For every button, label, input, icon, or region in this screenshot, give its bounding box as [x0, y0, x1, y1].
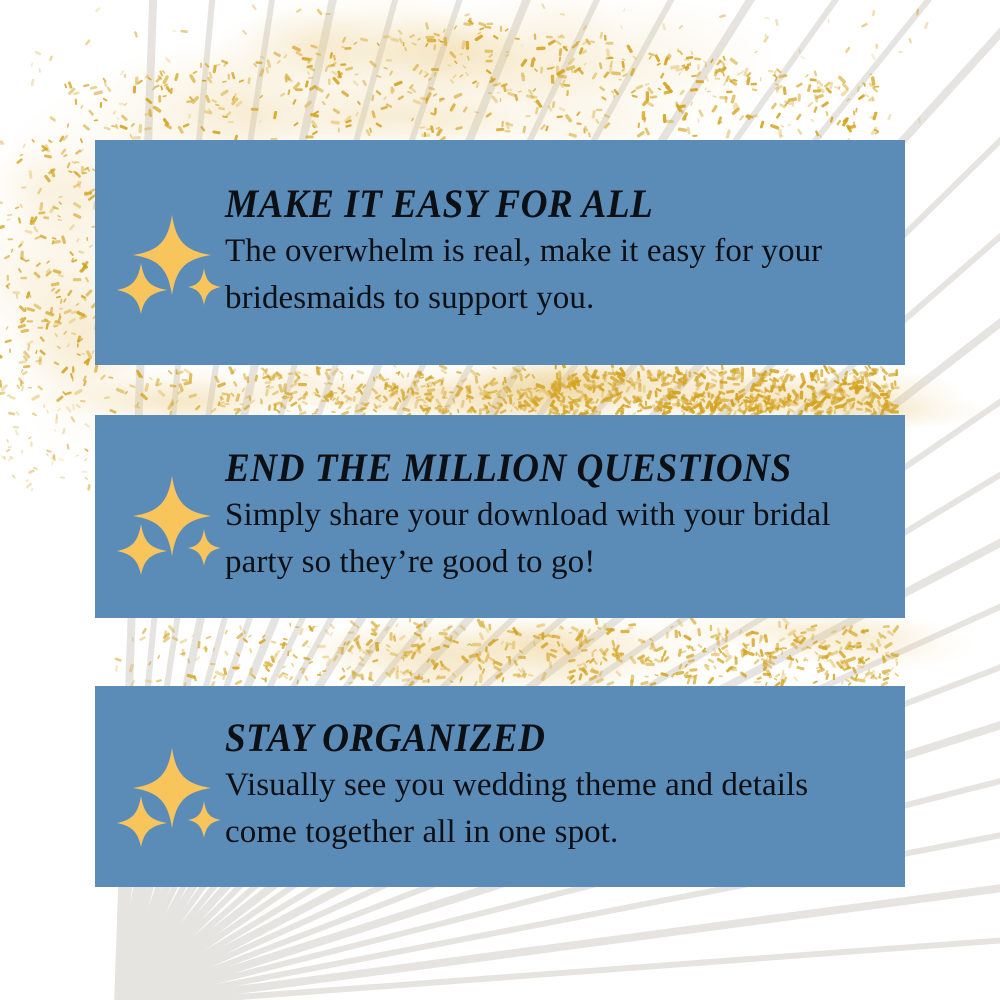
glitter-speck — [831, 370, 836, 373]
glitter-speck — [881, 368, 888, 375]
glitter-speck — [716, 637, 720, 646]
glitter-speck — [337, 647, 341, 649]
glitter-speck — [589, 658, 595, 665]
glitter-speck — [425, 97, 428, 104]
glitter-speck — [208, 108, 212, 112]
glitter-speck — [834, 404, 845, 410]
glitter-speck — [362, 384, 367, 389]
glitter-speck — [53, 206, 59, 210]
glitter-speck — [647, 369, 653, 377]
glitter-speck — [887, 630, 895, 637]
glitter-speck — [882, 669, 891, 674]
glitter-speck — [326, 391, 334, 398]
glitter-speck — [863, 83, 866, 87]
glitter-speck — [172, 636, 179, 642]
glitter-speck — [490, 76, 494, 82]
glitter-speck — [602, 371, 608, 380]
glitter-speck — [830, 398, 841, 405]
benefit-card-1-title: MAKE IT EASY FOR ALL — [225, 184, 835, 224]
glitter-speck — [758, 373, 764, 381]
glitter-speck — [830, 116, 834, 123]
glitter-speck — [612, 381, 616, 391]
glitter-speck — [86, 449, 89, 453]
glitter-speck — [775, 84, 783, 91]
glitter-speck — [315, 87, 317, 91]
glitter-speck — [588, 132, 591, 138]
glitter-speck — [212, 130, 220, 134]
glitter-speck — [681, 64, 685, 67]
glitter-speck — [518, 392, 525, 400]
glitter-speck — [19, 317, 23, 321]
glitter-speck — [63, 298, 67, 303]
glitter-speck — [684, 674, 692, 678]
glitter-speck — [0, 384, 8, 392]
glitter-speck — [395, 623, 398, 628]
glitter-speck — [32, 412, 38, 416]
glitter-speck — [755, 651, 757, 656]
glitter-speck — [890, 652, 900, 660]
glitter-speck — [718, 66, 726, 72]
glitter-speck — [786, 656, 794, 661]
glitter-speck — [916, 8, 919, 15]
glitter-speck — [828, 19, 829, 23]
glitter-speck — [547, 105, 553, 112]
glitter-speck — [77, 338, 83, 344]
glitter-speck — [271, 653, 278, 662]
glitter-speck — [690, 88, 698, 92]
glitter-speck — [612, 647, 618, 655]
glitter-speck — [501, 121, 504, 128]
glitter-speck — [666, 632, 669, 639]
glitter-speck — [310, 113, 319, 118]
glitter-speck — [875, 384, 880, 388]
glitter-speck — [563, 406, 566, 413]
glitter-speck — [80, 138, 84, 143]
glitter-speck — [223, 667, 228, 675]
glitter-speck — [485, 649, 490, 657]
glitter-speck — [495, 389, 502, 396]
glitter-speck — [867, 648, 874, 651]
glitter-speck — [131, 123, 135, 128]
glitter-speck — [884, 395, 891, 400]
glitter-speck — [604, 122, 611, 130]
glitter-speck — [275, 409, 280, 414]
glitter-speck — [729, 667, 736, 670]
glitter-speck — [853, 122, 855, 127]
glitter-speck — [426, 394, 433, 399]
glitter-speck — [134, 31, 138, 38]
glitter-speck — [558, 371, 562, 380]
glitter-speck — [561, 643, 564, 648]
glitter-speck — [59, 313, 61, 318]
glitter-speck — [443, 28, 446, 33]
glitter-speck — [76, 311, 86, 318]
glitter-speck — [626, 405, 631, 409]
glitter-speck — [204, 646, 207, 653]
glitter-speck — [162, 636, 171, 643]
glitter-speck — [878, 390, 884, 393]
glitter-speck — [78, 250, 84, 254]
glitter-speck — [823, 364, 829, 371]
glitter-speck — [734, 372, 744, 381]
glitter-speck — [861, 395, 868, 402]
glitter-speck — [563, 409, 570, 414]
glitter-speck — [800, 631, 807, 634]
glitter-speck — [686, 653, 695, 659]
glitter-speck — [575, 379, 582, 384]
glitter-speck — [375, 394, 382, 400]
glitter-speck — [792, 101, 794, 107]
glitter-speck — [56, 345, 61, 349]
glitter-speck — [50, 168, 56, 177]
glitter-speck — [428, 382, 435, 385]
glitter-speck — [815, 130, 820, 137]
glitter-speck — [419, 404, 426, 412]
glitter-speck — [845, 46, 851, 53]
glitter-speck — [55, 288, 61, 294]
glitter-speck — [341, 90, 350, 98]
glitter-speck — [266, 384, 271, 388]
glitter-speck — [220, 395, 223, 401]
glitter-speck — [737, 398, 739, 404]
glitter-speck — [188, 393, 197, 398]
glitter-speck — [769, 407, 775, 414]
glitter-speck — [52, 240, 61, 245]
glitter-speck — [301, 640, 309, 648]
glitter-speck — [581, 667, 589, 677]
glitter-speck — [599, 62, 603, 69]
glitter-speck — [165, 86, 171, 92]
glitter-speck — [650, 378, 658, 381]
glitter-speck — [178, 383, 184, 392]
glitter-speck — [579, 629, 584, 639]
glitter-speck — [210, 663, 216, 665]
glitter-speck — [260, 56, 265, 59]
glitter-speck — [30, 62, 33, 67]
glitter-speck — [740, 649, 744, 658]
glitter-speck — [749, 398, 751, 404]
glitter-speck — [315, 52, 321, 56]
glitter-speck — [360, 37, 368, 42]
glitter-speck — [771, 405, 780, 408]
glitter-speck — [657, 397, 663, 406]
glitter-speck — [691, 75, 696, 77]
glitter-speck — [765, 402, 771, 404]
glitter-speck — [754, 380, 765, 386]
glitter-speck — [789, 654, 793, 660]
glitter-speck — [593, 649, 597, 652]
glitter-speck — [862, 82, 866, 86]
glitter-speck — [609, 382, 614, 387]
glitter-speck — [583, 128, 585, 133]
glitter-speck — [776, 68, 782, 74]
glitter-speck — [744, 401, 747, 408]
glitter-speck — [729, 78, 733, 83]
glitter-speck — [752, 368, 756, 377]
glitter-speck — [596, 109, 603, 111]
glitter-speck — [852, 379, 862, 386]
glitter-speck — [449, 635, 452, 642]
glitter-speck — [546, 634, 554, 639]
glitter-speck — [500, 640, 504, 645]
glitter-speck — [533, 398, 539, 404]
glitter-speck — [764, 34, 766, 38]
glitter-speck — [710, 625, 712, 631]
glitter-speck — [630, 380, 640, 387]
glitter-speck — [696, 381, 705, 387]
glitter-speck — [135, 76, 138, 85]
glitter-speck — [791, 389, 799, 399]
glitter-speck — [427, 39, 436, 43]
glitter-speck — [375, 376, 381, 381]
glitter-speck — [390, 385, 399, 391]
glitter-speck — [841, 659, 848, 665]
glitter-speck — [431, 646, 441, 652]
glitter-speck — [497, 394, 501, 399]
glitter-speck — [259, 95, 263, 99]
glitter-speck — [462, 65, 466, 69]
glitter-speck — [657, 370, 666, 377]
glitter-speck — [57, 408, 61, 412]
glitter-speck — [291, 45, 301, 52]
glitter-speck — [412, 63, 420, 71]
glitter-speck — [65, 391, 72, 395]
glitter-speck — [425, 43, 429, 48]
glitter-speck — [16, 384, 20, 389]
glitter-speck — [691, 646, 694, 651]
glitter-speck — [58, 457, 65, 462]
glitter-speck — [558, 385, 561, 391]
glitter-speck — [670, 387, 676, 393]
glitter-speck — [374, 404, 382, 409]
glitter-speck — [290, 390, 298, 395]
glitter-speck — [744, 644, 750, 647]
glitter-speck — [391, 86, 394, 93]
glitter-speck — [359, 648, 364, 652]
glitter-speck — [869, 116, 875, 118]
glitter-speck — [600, 396, 609, 404]
glitter-speck — [423, 404, 429, 408]
glitter-speck — [848, 385, 858, 391]
glitter-speck — [367, 650, 371, 654]
glitter-speck — [843, 117, 848, 123]
glitter-speck — [606, 56, 613, 60]
glitter-speck — [717, 116, 722, 124]
glitter-speck — [334, 401, 343, 405]
glitter-speck — [745, 79, 750, 82]
glitter-speck — [497, 403, 503, 411]
glitter-speck — [610, 393, 619, 399]
glitter-speck — [726, 91, 733, 94]
glitter-speck — [346, 666, 351, 671]
glitter-speck — [778, 386, 781, 392]
glitter-speck — [344, 394, 353, 401]
glitter-speck — [273, 404, 277, 411]
glitter-speck — [665, 120, 674, 124]
glitter-speck — [83, 166, 89, 171]
glitter-speck — [739, 115, 745, 121]
glitter-speck — [301, 391, 309, 400]
glitter-speck — [670, 396, 678, 399]
glitter-speck — [547, 67, 553, 70]
glitter-speck — [75, 303, 79, 306]
glitter-speck — [761, 411, 766, 413]
glitter-speck — [52, 269, 61, 274]
glitter-speck — [674, 629, 678, 638]
glitter-speck — [16, 158, 23, 165]
glitter-speck — [45, 311, 55, 317]
glitter-speck — [707, 91, 711, 93]
glitter-speck — [353, 671, 361, 677]
glitter-speck — [883, 625, 890, 628]
glitter-speck — [725, 96, 728, 103]
glitter-speck — [656, 404, 665, 413]
glitter-speck — [394, 386, 399, 390]
glitter-speck — [702, 647, 707, 652]
glitter-speck — [535, 99, 543, 108]
glitter-speck — [0, 200, 3, 205]
glitter-speck — [289, 676, 293, 681]
glitter-speck — [434, 407, 441, 411]
glitter-speck — [39, 234, 47, 239]
glitter-speck — [249, 667, 253, 676]
glitter-speck — [100, 374, 106, 380]
glitter-speck — [340, 647, 344, 655]
glitter-speck — [442, 397, 448, 399]
glitter-speck — [488, 377, 496, 385]
glitter-speck — [681, 112, 688, 122]
glitter-speck — [456, 384, 464, 390]
glitter-speck — [290, 401, 298, 407]
glitter-speck — [631, 674, 635, 683]
glitter-speck — [608, 372, 616, 375]
glitter-speck — [636, 130, 645, 138]
glitter-speck — [577, 393, 586, 402]
glitter-speck — [280, 643, 288, 646]
glitter-speck — [884, 642, 894, 650]
glitter-haze — [539, 617, 743, 659]
benefit-card-1-body: MAKE IT EASY FOR ALL The overwhelm is re… — [225, 184, 905, 322]
glitter-speck — [582, 25, 587, 31]
glitter-speck — [222, 80, 227, 83]
glitter-speck — [737, 394, 743, 401]
glitter-speck — [158, 95, 161, 102]
glitter-speck — [393, 634, 395, 639]
glitter-speck — [450, 79, 455, 84]
glitter-speck — [863, 674, 869, 680]
glitter-speck — [74, 388, 83, 395]
glitter-speck — [723, 64, 726, 70]
glitter-speck — [522, 404, 529, 411]
glitter-speck — [162, 632, 170, 640]
glitter-speck — [619, 367, 626, 376]
glitter-speck — [538, 106, 542, 108]
glitter-speck — [442, 627, 450, 632]
glitter-speck — [5, 283, 11, 288]
glitter-speck — [589, 40, 595, 43]
glitter-speck — [522, 126, 526, 134]
glitter-speck — [660, 672, 669, 677]
glitter-speck — [241, 387, 245, 392]
glitter-speck — [824, 396, 831, 399]
glitter-speck — [479, 674, 483, 684]
glitter-speck — [9, 348, 11, 353]
glitter-speck — [700, 391, 705, 398]
glitter-speck — [213, 65, 217, 74]
glitter-speck — [37, 187, 43, 194]
glitter-speck — [21, 450, 23, 454]
glitter-speck — [518, 401, 523, 410]
glitter-speck — [603, 114, 610, 119]
glitter-speck — [672, 390, 681, 394]
glitter-speck — [847, 125, 853, 128]
glitter-speck — [608, 57, 613, 59]
glitter-speck — [7, 275, 9, 281]
glitter-speck — [354, 73, 358, 76]
glitter-speck — [35, 51, 42, 56]
glitter-speck — [478, 22, 486, 27]
glitter-speck — [766, 406, 774, 411]
glitter-speck — [885, 651, 890, 654]
glitter-speck — [596, 382, 605, 389]
glitter-speck — [793, 639, 800, 644]
glitter-speck — [840, 88, 849, 97]
glitter-speck — [689, 668, 697, 672]
glitter-speck — [807, 398, 813, 402]
glitter-speck — [430, 112, 436, 116]
glitter-speck — [623, 8, 626, 12]
glitter-speck — [705, 664, 710, 668]
glitter-speck — [644, 676, 648, 678]
glitter-speck — [764, 659, 773, 664]
glitter-speck — [859, 643, 861, 648]
glitter-speck — [507, 394, 514, 398]
glitter-speck — [393, 401, 400, 410]
glitter-speck — [841, 82, 849, 90]
benefit-card-3-text: Visually see you wedding theme and detai… — [225, 762, 881, 856]
glitter-speck — [734, 102, 741, 110]
glitter-speck — [852, 402, 856, 408]
glitter-speck — [307, 71, 311, 76]
glitter-speck — [846, 124, 853, 133]
glitter-speck — [766, 669, 773, 679]
glitter-speck — [794, 637, 799, 642]
glitter-speck — [69, 251, 74, 257]
glitter-speck — [389, 632, 392, 641]
glitter-speck — [79, 181, 81, 185]
glitter-speck — [495, 82, 502, 87]
glitter-speck — [84, 191, 92, 195]
glitter-speck — [824, 392, 834, 397]
glitter-speck — [534, 395, 542, 403]
glitter-speck — [870, 371, 876, 374]
glitter-speck — [838, 86, 840, 90]
glitter-speck — [434, 72, 437, 77]
glitter-speck — [846, 656, 856, 662]
glitter-speck — [648, 52, 655, 56]
glitter-speck — [668, 55, 672, 61]
glitter-speck — [224, 650, 229, 655]
glitter-speck — [265, 677, 267, 682]
glitter-haze — [309, 610, 599, 695]
glitter-speck — [883, 405, 890, 409]
glitter-speck — [20, 316, 27, 324]
glitter-haze — [762, 369, 965, 416]
glitter-speck — [552, 388, 561, 392]
glitter-speck — [133, 86, 136, 94]
glitter-speck — [512, 627, 519, 636]
glitter-speck — [400, 388, 405, 397]
